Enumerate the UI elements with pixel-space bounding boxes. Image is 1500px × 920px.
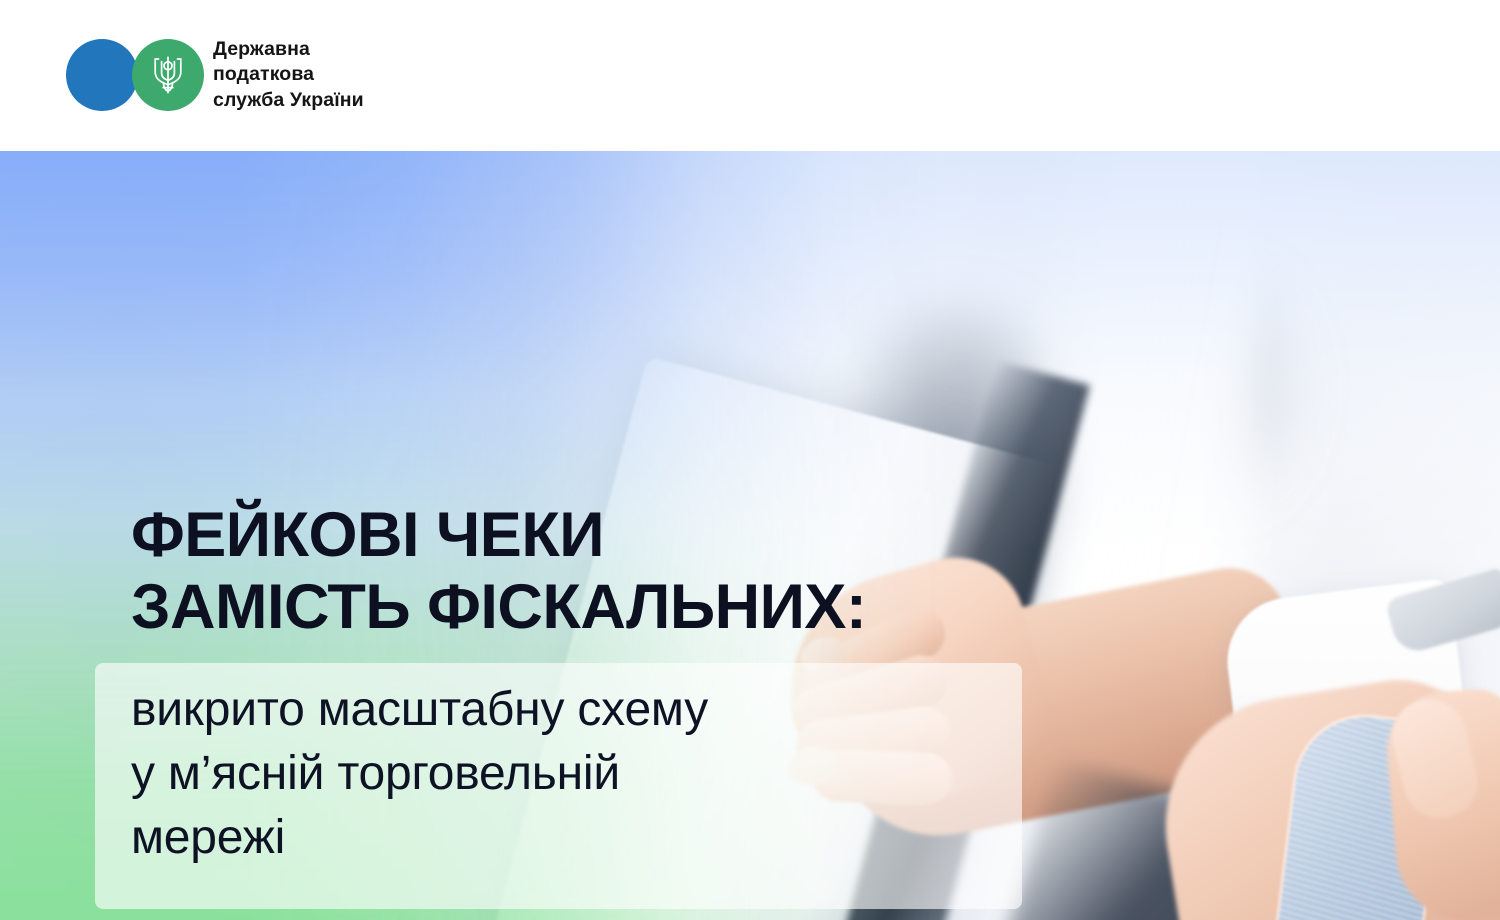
page-subtitle: викрито масштабну схему у м’ясній торгов…: [131, 678, 1041, 870]
organization-logo[interactable]: Державна податкова служба України: [66, 36, 364, 114]
logo-green-circle-icon: [132, 39, 204, 111]
organization-name: Державна податкова служба України: [201, 37, 364, 114]
page-title: ФЕЙКОВІ ЧЕКИ ЗАМІСТЬ ФІСКАЛЬНИХ:: [131, 499, 1071, 643]
hero-banner: ФЕЙКОВІ ЧЕКИ ЗАМІСТЬ ФІСКАЛЬНИХ: викрито…: [0, 151, 1500, 920]
site-header: Державна податкова служба України: [0, 0, 1500, 151]
ukraine-trident-icon: [151, 54, 185, 96]
logo-marks: [66, 36, 201, 114]
logo-blue-circle-icon: [66, 39, 138, 111]
poster-page: Державна податкова служба України: [0, 0, 1500, 920]
